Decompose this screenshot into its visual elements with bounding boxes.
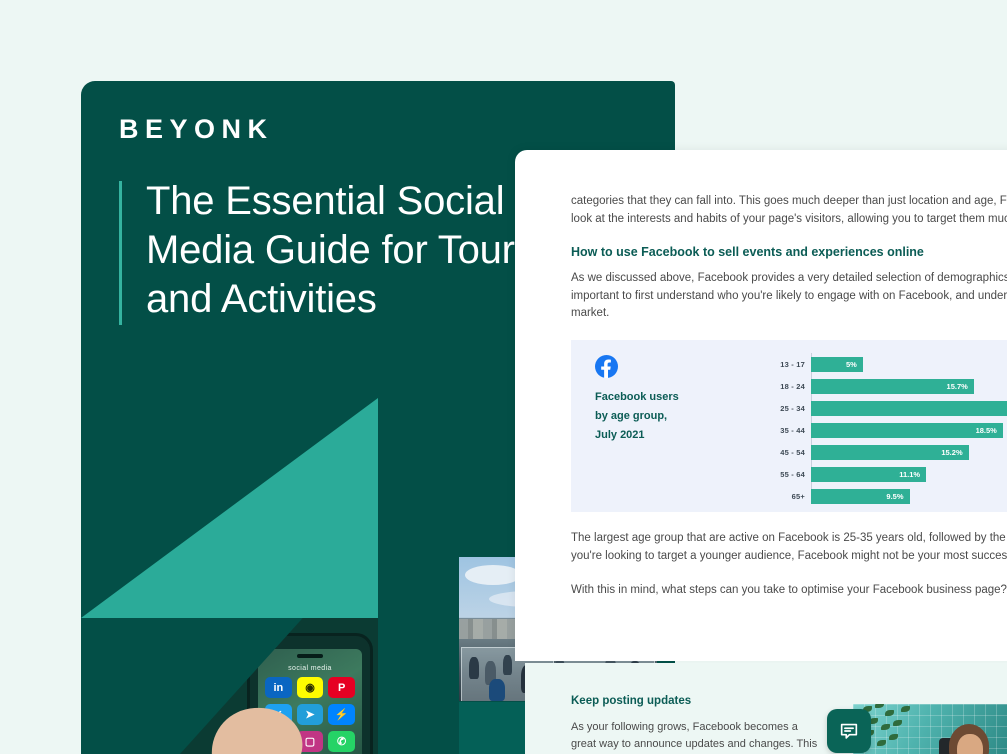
chart-bar-track: 5% <box>811 357 1007 372</box>
chart-bar-value-label: 15.2% <box>941 448 968 457</box>
title-accent-line <box>119 181 122 325</box>
paragraph-largest-age-group: The largest age group that are active on… <box>571 530 1007 565</box>
facebook-age-chart: Facebook users by age group, July 2021 1… <box>571 340 1007 512</box>
page2-paragraph: As your following grows, Facebook become… <box>571 719 821 753</box>
chart-bar-rows: 13 - 175%18 - 2415.7%25 - 3425%35 - 4418… <box>771 357 1007 511</box>
section-heading-facebook: How to use Facebook to sell events and e… <box>571 245 1007 259</box>
diagonal-accent-wedge <box>81 398 378 618</box>
chart-plot-area: 13 - 175%18 - 2415.7%25 - 3425%35 - 4418… <box>771 353 1007 502</box>
paragraph-line: The largest age group that are active on… <box>571 532 1007 544</box>
chat-bubble-icon <box>838 720 860 742</box>
chart-bar-row: 65+9.5% <box>771 489 1007 504</box>
chart-bar-value-label: 15.7% <box>947 382 974 391</box>
chart-bar-row: 35 - 4418.5% <box>771 423 1007 438</box>
chart-bar-track: 9.5% <box>811 489 1007 504</box>
chart-bar-track: 25% <box>811 401 1007 416</box>
chart-bar: 15.2% <box>811 445 969 460</box>
app-icon-whatsapp: ✆ <box>328 731 355 752</box>
paragraph-optimise-question: With this in mind, what steps can you ta… <box>571 582 1007 600</box>
paragraph-line: As your following grows, Facebook become… <box>571 721 798 733</box>
crowd-person <box>489 679 505 701</box>
screenshot-stage: BEYONK The Essential Social Media Guide … <box>0 0 1007 754</box>
chart-bar-value-label: 11.1% <box>899 470 926 479</box>
phone-notch <box>297 654 323 658</box>
chart-bar: 15.7% <box>811 379 974 394</box>
chart-bar-category-label: 55 - 64 <box>771 470 811 479</box>
photo-office-plants <box>853 704 1007 754</box>
chart-bar-row: 18 - 2415.7% <box>771 379 1007 394</box>
chart-bar-track: 15.2% <box>811 445 1007 460</box>
page2-text-block: Keep posting updates As your following g… <box>571 695 821 753</box>
cloud-shape <box>465 565 521 585</box>
beyonk-logo: BEYONK <box>119 116 274 143</box>
chart-bar-category-label: 13 - 17 <box>771 360 811 369</box>
chart-bar: 18.5% <box>811 423 1003 438</box>
chart-bar-category-label: 25 - 34 <box>771 404 811 413</box>
chat-widget-button[interactable] <box>827 709 871 753</box>
document-body: categories that they can fall into. This… <box>571 193 1007 617</box>
person-face <box>957 734 983 754</box>
chart-bar-value-label: 18.5% <box>976 426 1003 435</box>
chart-bar-row: 25 - 3425% <box>771 401 1007 416</box>
app-icon-messenger: ⚡ <box>328 704 355 725</box>
chart-bar-row: 55 - 6411.1% <box>771 467 1007 482</box>
chart-caption-line: by age group, <box>595 407 705 426</box>
triangle-shape <box>81 398 378 618</box>
paragraph-line: great way to announce updates and change… <box>571 738 817 750</box>
chart-caption-line: July 2021 <box>595 426 705 445</box>
chart-bar-category-label: 45 - 54 <box>771 448 811 457</box>
paragraph-line: you're looking to target a younger audie… <box>571 550 1007 562</box>
photo-phone-social-apps: social media in ◉ P ✓ ➤ ⚡ f ▢ ✆ <box>180 618 378 754</box>
chart-brand-block: Facebook users by age group, July 2021 <box>595 355 705 445</box>
chart-bar-track: 18.5% <box>811 423 1007 438</box>
app-icon-pinterest: P <box>328 677 355 698</box>
paragraph-line: As we discussed above, Facebook provides… <box>571 272 1007 284</box>
paragraph-line: categories that they can fall into. This… <box>571 195 1007 207</box>
crowd-person <box>503 655 512 675</box>
phone-folder-label: social media <box>258 665 362 672</box>
paragraph-intro: categories that they can fall into. This… <box>571 193 1007 228</box>
chart-bar-track: 11.1% <box>811 467 1007 482</box>
chart-bar: 5% <box>811 357 863 372</box>
chart-caption: Facebook users by age group, July 2021 <box>595 388 705 445</box>
app-icon-telegram: ➤ <box>297 704 324 725</box>
document-page-2[interactable]: Keep posting updates As your following g… <box>525 663 1007 754</box>
chart-bar-category-label: 65+ <box>771 492 811 501</box>
chart-bar: 25% <box>811 401 1007 416</box>
chart-bar-value-label: 5% <box>846 360 863 369</box>
app-icon-snapchat: ◉ <box>297 677 324 698</box>
chart-bar-row: 45 - 5415.2% <box>771 445 1007 460</box>
paragraph-demographics: As we discussed above, Facebook provides… <box>571 270 1007 323</box>
cover-title: The Essential Social Media Guide for Tou… <box>146 177 576 323</box>
chart-bar: 9.5% <box>811 489 910 504</box>
chart-bar-row: 13 - 175% <box>771 357 1007 372</box>
chart-bar: 11.1% <box>811 467 926 482</box>
paragraph-line: important to first understand who you're… <box>571 290 1007 302</box>
chart-bar-category-label: 18 - 24 <box>771 382 811 391</box>
chart-caption-line: Facebook users <box>595 388 705 407</box>
paragraph-line: look at the interests and habits of your… <box>571 213 1007 225</box>
page2-heading: Keep posting updates <box>571 695 821 707</box>
crowd-person <box>469 657 479 679</box>
chart-bar-value-label: 9.5% <box>886 492 909 501</box>
chart-bar-category-label: 35 - 44 <box>771 426 811 435</box>
paragraph-line: market. <box>571 307 609 319</box>
document-page-1[interactable]: categories that they can fall into. This… <box>515 150 1007 661</box>
facebook-logo-icon <box>595 355 618 378</box>
app-icon-linkedin: in <box>265 677 292 698</box>
chart-bar-track: 15.7% <box>811 379 1007 394</box>
